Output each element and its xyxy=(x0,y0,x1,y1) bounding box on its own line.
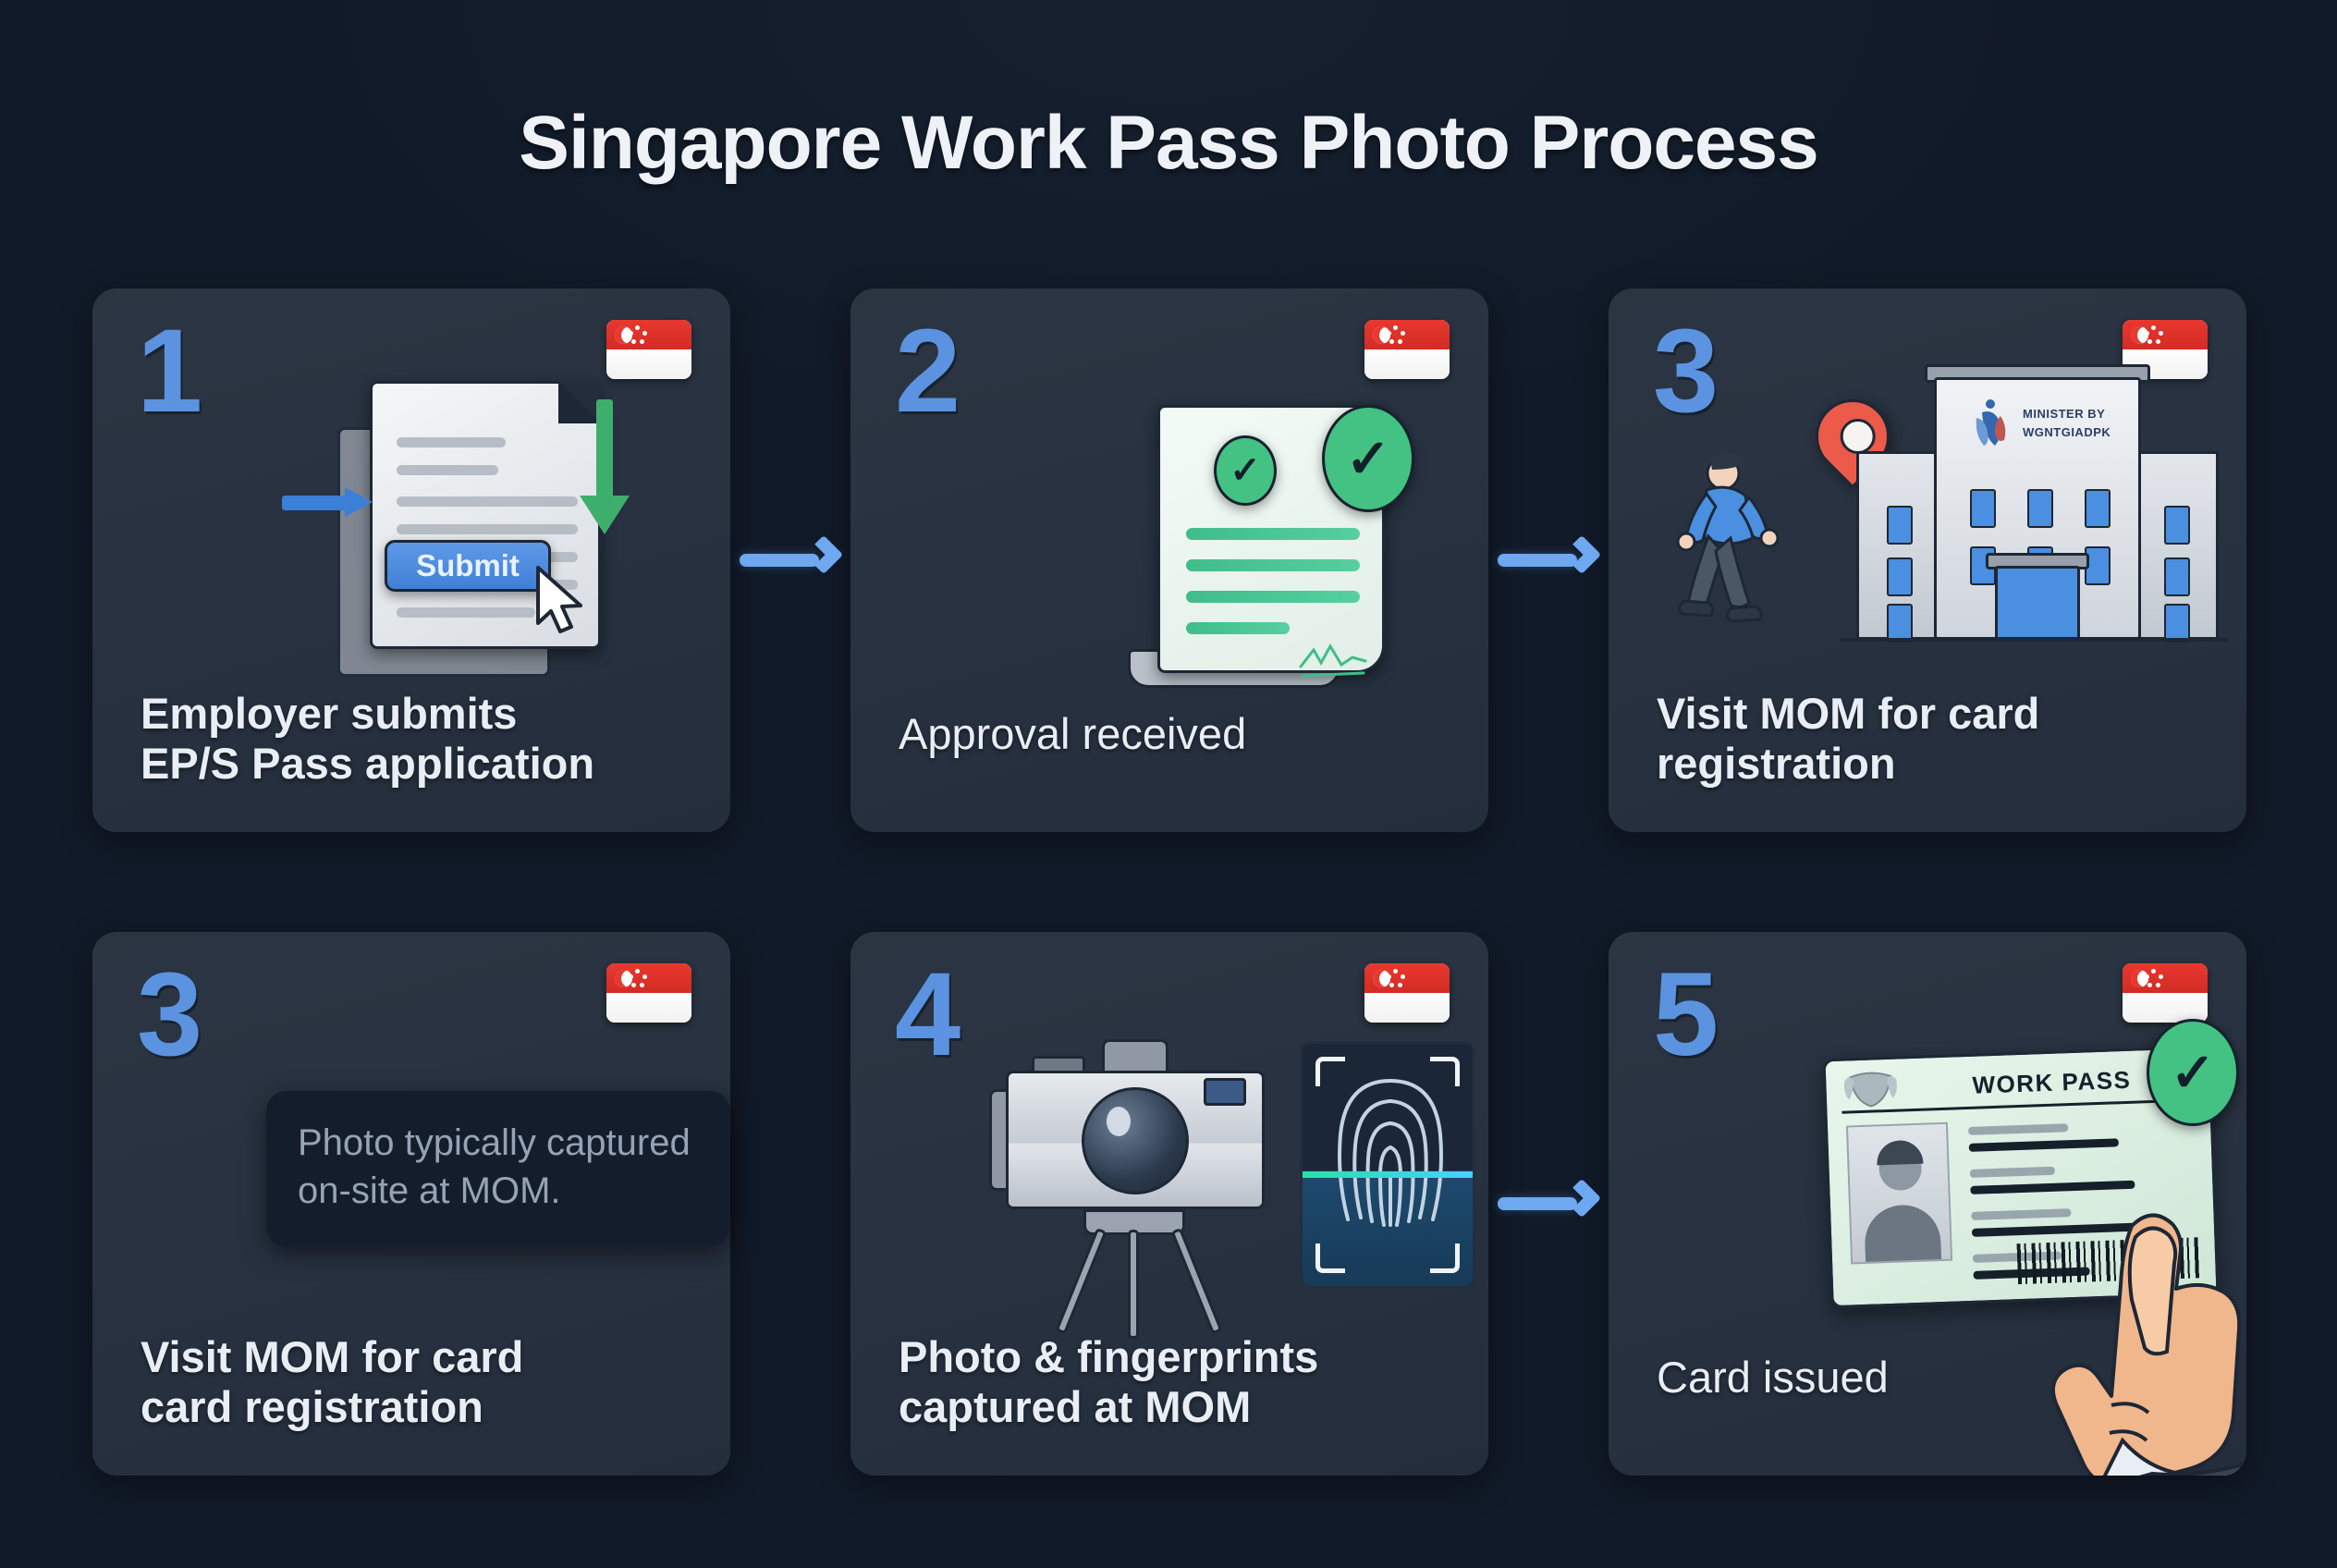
step-number-1: 1 xyxy=(137,312,202,431)
process-arrow-icon xyxy=(578,399,633,547)
step-number-4: 4 xyxy=(895,956,960,1074)
building-wing-left xyxy=(1856,451,1941,640)
check-icon: ✓ xyxy=(2147,1019,2239,1126)
step-caption-1: Employer submits EP/S Pass application xyxy=(141,689,693,790)
tripod-leg xyxy=(1055,1228,1107,1335)
tooltip-photo-note: Photo typically captured on-site at MOM. xyxy=(266,1091,730,1246)
walking-person-icon xyxy=(1673,446,1784,644)
step-card-1[interactable]: 1 Submit Employer sub xyxy=(92,288,730,832)
infographic-page: Singapore Work Pass Photo Process 1 Subm… xyxy=(0,0,2337,1568)
ground-line xyxy=(1840,638,2228,642)
step-caption-3: Visit MOM for card registration xyxy=(1657,689,2209,790)
step-card-4[interactable]: 4 xyxy=(850,932,1488,1476)
camera-flash xyxy=(1204,1078,1246,1106)
page-title: Singapore Work Pass Photo Process xyxy=(0,100,2337,187)
camera-lens xyxy=(1082,1087,1189,1194)
singapore-flag-icon xyxy=(606,320,691,379)
card-title: WORK PASS xyxy=(1972,1066,2132,1100)
submit-button[interactable]: Submit xyxy=(385,540,551,592)
tripod-leg xyxy=(1128,1230,1139,1339)
upload-arrow-icon xyxy=(282,487,384,515)
step-card-2[interactable]: 2 ✓ ✓ Approval received xyxy=(850,288,1488,832)
tripod-leg xyxy=(1170,1228,1222,1335)
fingerprint-scanner-icon xyxy=(1300,1041,1475,1289)
singapore-emblem-icon xyxy=(1842,1067,1899,1109)
card-photo xyxy=(1846,1122,1952,1265)
building-door xyxy=(1995,566,2080,640)
singapore-flag-icon xyxy=(606,963,691,1023)
step-number-5: 5 xyxy=(1653,956,1719,1074)
building-logo-text: MINISTER BY WGNTGIADPK xyxy=(2023,405,2152,441)
singapore-flag-icon xyxy=(1364,320,1450,379)
hand-icon xyxy=(2043,1163,2246,1476)
step-card-5[interactable]: 5 WORK PASS xyxy=(1609,932,2246,1476)
step-caption-3-duplicate: Visit MOM for card card registration xyxy=(141,1332,693,1433)
building-wing-right xyxy=(2134,451,2219,640)
step-number-2: 2 xyxy=(895,312,960,431)
step-number-3: 3 xyxy=(1653,312,1719,431)
step-caption-5: Card issued xyxy=(1657,1353,2209,1403)
step-number-3-duplicate: 3 xyxy=(137,956,202,1074)
step-card-3[interactable]: 3 xyxy=(1609,288,2246,832)
step-caption-2: Approval received xyxy=(899,709,1451,760)
scan-line xyxy=(1303,1171,1473,1178)
singapore-flag-icon xyxy=(2123,963,2208,1023)
mom-logo-icon xyxy=(1969,398,2012,447)
singapore-flag-icon xyxy=(1364,963,1450,1023)
check-icon-small: ✓ xyxy=(1214,435,1277,506)
step-caption-4: Photo & fingerprints captured at MOM xyxy=(899,1332,1451,1433)
check-icon-large: ✓ xyxy=(1322,405,1414,512)
